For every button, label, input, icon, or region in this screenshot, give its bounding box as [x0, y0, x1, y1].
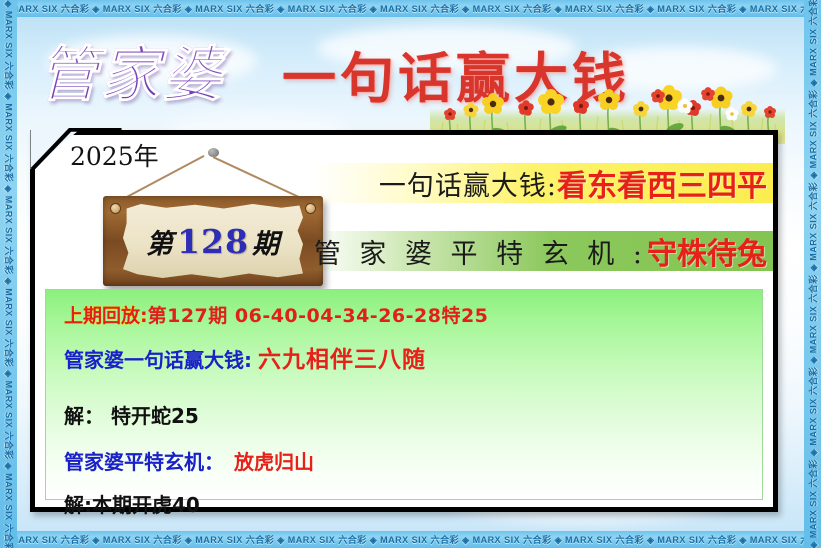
issue-plaque: 第128期 [95, 148, 335, 288]
border-band-bottom: ◈ MARX SIX 六合彩 ◈ MARX SIX 六合彩 ◈ MARX SIX… [0, 531, 821, 548]
border-band-left: ◈ MARX SIX 六合彩 ◈ MARX SIX 六合彩 ◈ MARX SIX… [0, 0, 17, 548]
border-text-top: ◈ MARX SIX 六合彩 ◈ MARX SIX 六合彩 ◈ MARX SIX… [0, 2, 821, 15]
strip-label-0: 一句话赢大钱: [379, 164, 557, 203]
history-box: 上期回放: 第127期 06-40-04-34-26-28特25 管家婆一句话赢… [45, 289, 763, 500]
border-text-left: ◈ MARX SIX 六合彩 ◈ MARX SIX 六合彩 ◈ MARX SIX… [2, 0, 15, 548]
screw-icon [305, 203, 316, 214]
rope-right [213, 156, 301, 198]
prev-pingte-label: 管家婆平特玄机： [64, 446, 224, 475]
issue-prefix: 第 [146, 229, 174, 260]
screw-icon [110, 203, 121, 214]
explain-text-1: 解： 特开蛇25 [64, 400, 199, 429]
border-band-top: ◈ MARX SIX 六合彩 ◈ MARX SIX 六合彩 ◈ MARX SIX… [0, 0, 821, 17]
recall-row: 上期回放: 第127期 06-40-04-34-26-28特25 [64, 301, 762, 328]
yellow-flowers [463, 85, 757, 118]
prev-slogan-label: 管家婆一句话赢大钱: [64, 344, 252, 373]
strip-value-1: 守株待兔 [647, 229, 767, 273]
explain-row-1: 解： 特开蛇25 [64, 400, 762, 429]
poster-canvas: 管家婆 一句话赢大钱 [0, 0, 821, 548]
plaque-board: 第128期 [103, 196, 323, 286]
strip-label-1: 管 家 婆 平 特 玄 机 : [314, 232, 647, 271]
prev-pingte-value: 放虎归山 [224, 446, 314, 475]
explain-text-2: 解:本期开虎40 [64, 489, 200, 518]
plaque-paper: 第128期 [123, 204, 303, 278]
issue-number-text: 第128期 [146, 222, 280, 261]
prev-slogan-row: 管家婆一句话赢大钱: 六九相伴三八随 [64, 340, 762, 374]
rope-left [123, 155, 205, 200]
recall-value: 第127期 06-40-04-34-26-28特25 [148, 301, 489, 328]
issue-suffix: 期 [252, 229, 280, 260]
border-text-bottom: ◈ MARX SIX 六合彩 ◈ MARX SIX 六合彩 ◈ MARX SIX… [0, 533, 821, 546]
border-text-right: ◈ MARX SIX 六合彩 ◈ MARX SIX 六合彩 ◈ MARX SIX… [806, 0, 819, 548]
recall-label: 上期回放: [64, 301, 148, 328]
strip-yixinghua: 一句话赢大钱: 看东看西三四平 [312, 163, 773, 203]
issue-number: 128 [174, 222, 252, 261]
border-band-right: ◈ MARX SIX 六合彩 ◈ MARX SIX 六合彩 ◈ MARX SIX… [804, 0, 821, 548]
strip-pingte: 管 家 婆 平 特 玄 机 : 守株待兔 [312, 231, 773, 271]
brand-title: 管家婆 [38, 26, 224, 113]
prev-pingte-row: 管家婆平特玄机： 放虎归山 [64, 446, 762, 475]
strip-value-0: 看东看西三四平 [557, 161, 767, 205]
explain-row-2: 解:本期开虎40 [64, 489, 762, 518]
prev-slogan-value: 六九相伴三八随 [252, 340, 426, 374]
